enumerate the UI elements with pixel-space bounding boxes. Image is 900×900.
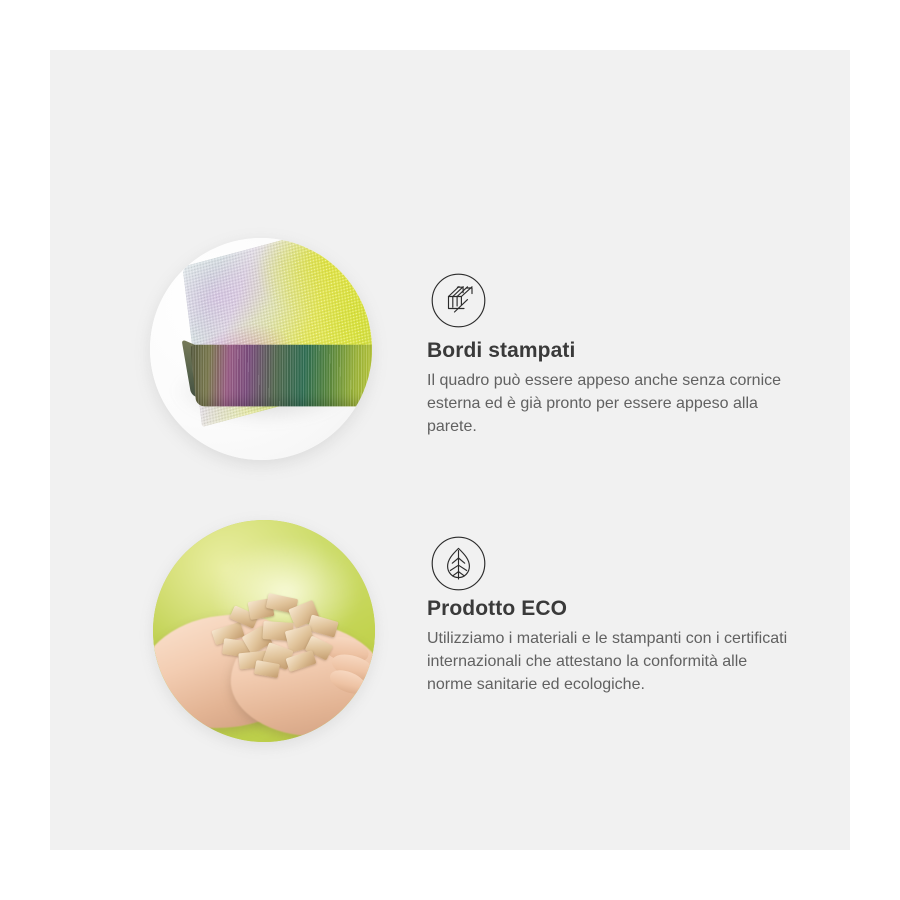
eco-photo-backdrop — [153, 520, 375, 742]
canvas-wrapped-edge — [190, 345, 372, 407]
content-panel: Bordi stampati Il quadro può essere appe… — [50, 50, 850, 850]
canvas-corner-photo — [150, 238, 372, 460]
canvas-photo-backdrop — [150, 238, 372, 460]
feature-description: Il quadro può essere appeso anche senza … — [427, 370, 789, 438]
feature-text-eco-product: Prodotto ECO Utilizziamo i materiali e l… — [427, 596, 807, 696]
feature-title: Prodotto ECO — [427, 596, 807, 621]
feature-title: Bordi stampati — [427, 338, 807, 363]
feature-text-printed-edges: Bordi stampati Il quadro può essere appe… — [427, 338, 807, 438]
canvas-block — [173, 238, 372, 459]
wrapped-canvas-edge-icon — [431, 273, 486, 328]
feature-printed-edges: Bordi stampati Il quadro può essere appe… — [50, 170, 850, 450]
leaf-icon — [431, 536, 486, 591]
product-feature-infographic: Bordi stampati Il quadro può essere appe… — [0, 0, 900, 900]
feature-description: Utilizziamo i materiali e le stampanti c… — [427, 628, 789, 696]
wood-chips-in-hands-photo — [153, 520, 375, 742]
wood-chip-pile — [209, 596, 341, 680]
wood-chip — [254, 660, 280, 678]
feature-eco-product: Prodotto ECO Utilizziamo i materiali e l… — [50, 450, 850, 730]
